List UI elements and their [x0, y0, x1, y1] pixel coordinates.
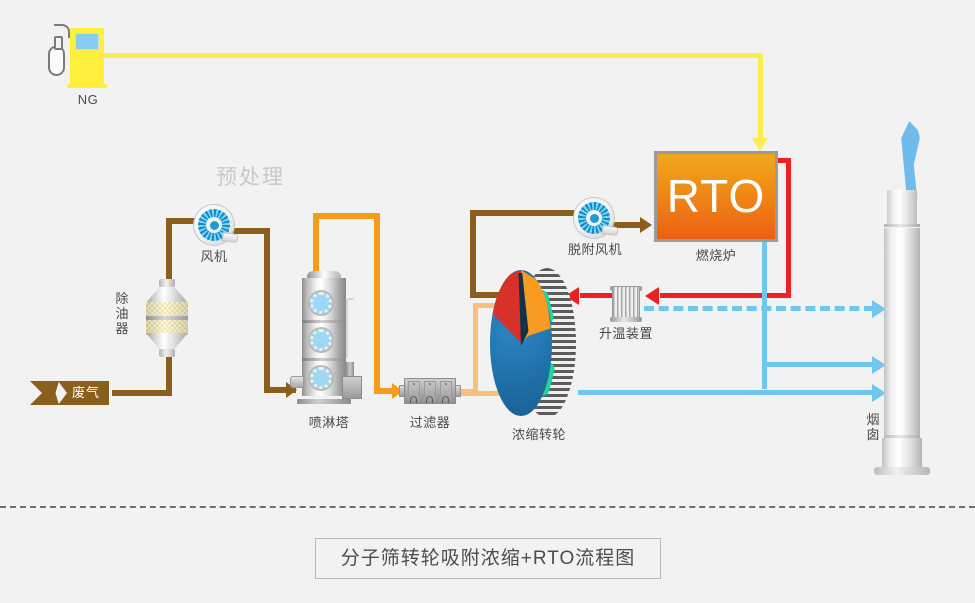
- rotor-label: 浓缩转轮: [487, 424, 591, 443]
- stack-label: 烟囱: [866, 412, 880, 442]
- smoke-plume-icon: [895, 121, 921, 199]
- spray-tower-label: 喷淋塔: [290, 412, 368, 431]
- hot-gas-return-bottom: [660, 293, 791, 298]
- rto-inlet-arrowhead: [640, 217, 652, 233]
- fan-outlet-line-vertical: [264, 228, 270, 388]
- filtered-gas-line-riser: [473, 303, 478, 394]
- clean-gas-line-horizontal: [762, 362, 876, 367]
- waste-gas-inlet-label: 废气: [58, 381, 109, 405]
- rto-label: 燃烧炉: [677, 245, 755, 264]
- chimney-icon: [880, 190, 932, 475]
- desorb-gas-line-riser: [470, 210, 476, 298]
- ng-station-label: NG: [60, 92, 116, 107]
- process-flow-diagram: NG 废气 除油器 风机 喷淋塔: [0, 0, 975, 603]
- heat-exchanger-icon: [610, 286, 642, 322]
- scrubber-tower-icon: [296, 268, 362, 404]
- hot-gas-return-riser: [786, 158, 791, 298]
- filter-label: 过滤器: [401, 412, 459, 431]
- diagram-caption: 分子筛转轮吸附浓缩+RTO流程图: [315, 538, 661, 579]
- bypass-line-dashed: [644, 306, 874, 311]
- pretreatment-section-label: 预处理: [216, 161, 285, 191]
- desorb-gas-line-top: [470, 210, 574, 216]
- waste-gas-line-horizontal: [112, 390, 172, 396]
- scrubbed-gas-line-riser: [313, 213, 319, 273]
- section-divider: [0, 506, 975, 508]
- scrubbed-gas-line-downcomer: [374, 213, 380, 388]
- ng-fuel-line-arrowhead: [752, 138, 768, 151]
- rotor-outlet-line: [578, 390, 876, 395]
- heater-inlet-arrowhead: [645, 287, 659, 305]
- filter-box-icon: [404, 378, 456, 406]
- heater-label: 升温装置: [587, 323, 665, 342]
- rto-furnace-icon: RTO: [654, 151, 778, 242]
- rotary-concentrator-icon: [490, 268, 585, 418]
- de-oiler-label: 除油器: [115, 291, 129, 336]
- blower-fan-label: 风机: [186, 246, 242, 265]
- fuel-nozzle-icon: [48, 46, 65, 76]
- pump-display-icon: [75, 33, 99, 50]
- centrifugal-fan-icon: [194, 205, 234, 245]
- centrifugal-fan-icon: [574, 198, 614, 238]
- oil-separator-icon: [146, 279, 188, 357]
- fuel-hose-icon: [54, 24, 70, 38]
- waste-gas-arrow-icon: [30, 381, 59, 405]
- ng-fuel-line-horizontal: [101, 53, 763, 58]
- desorb-fan-label: 脱附风机: [556, 239, 634, 258]
- ng-fuel-line-vertical-drop: [758, 53, 763, 139]
- scrubbed-gas-line-horizontal: [313, 213, 380, 219]
